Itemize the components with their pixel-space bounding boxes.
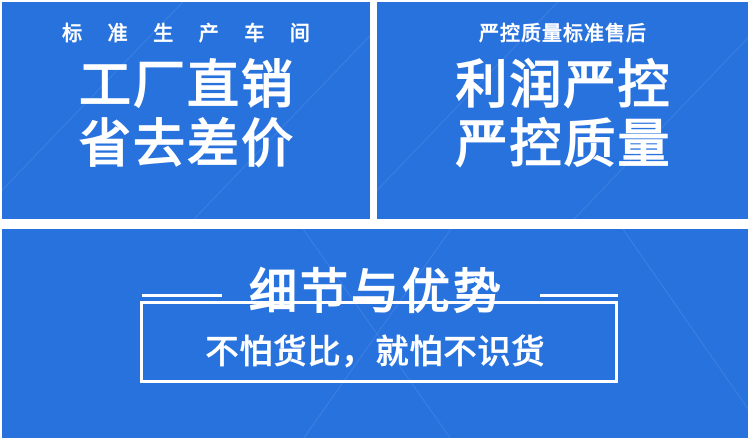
panel-left-headline-line2: 省去差价 (77, 119, 295, 172)
panel-left-content: 标 准 生 产 车 间 工厂直销 省去差价 (2, 2, 370, 219)
panel-bottom-content: 细节与优势 不怕货比，就怕不识货 (2, 229, 748, 438)
panel-left-kicker: 标 准 生 产 车 间 (52, 24, 320, 44)
panel-left-headline-line1: 工厂直销 (77, 60, 295, 113)
panel-right-headline-line2: 严控质量 (453, 119, 671, 172)
promo-banner-canvas: 标 准 生 产 车 间 工厂直销 省去差价 严控质量标准售后 利润严控 严控质量 (0, 0, 750, 440)
banner-subtitle: 不怕货比，就怕不识货 (2, 335, 748, 368)
panel-factory-direct: 标 准 生 产 车 间 工厂直销 省去差价 (2, 2, 370, 219)
panel-details-advantages: 细节与优势 不怕货比，就怕不识货 (2, 229, 748, 438)
panel-quality-control: 严控质量标准售后 利润严控 严控质量 (377, 2, 748, 219)
panel-right-content: 严控质量标准售后 利润严控 严控质量 (377, 2, 748, 219)
panel-right-headline-line1: 利润严控 (453, 60, 671, 113)
panel-right-kicker: 严控质量标准售后 (478, 24, 647, 44)
banner-title: 细节与优势 (2, 269, 748, 317)
